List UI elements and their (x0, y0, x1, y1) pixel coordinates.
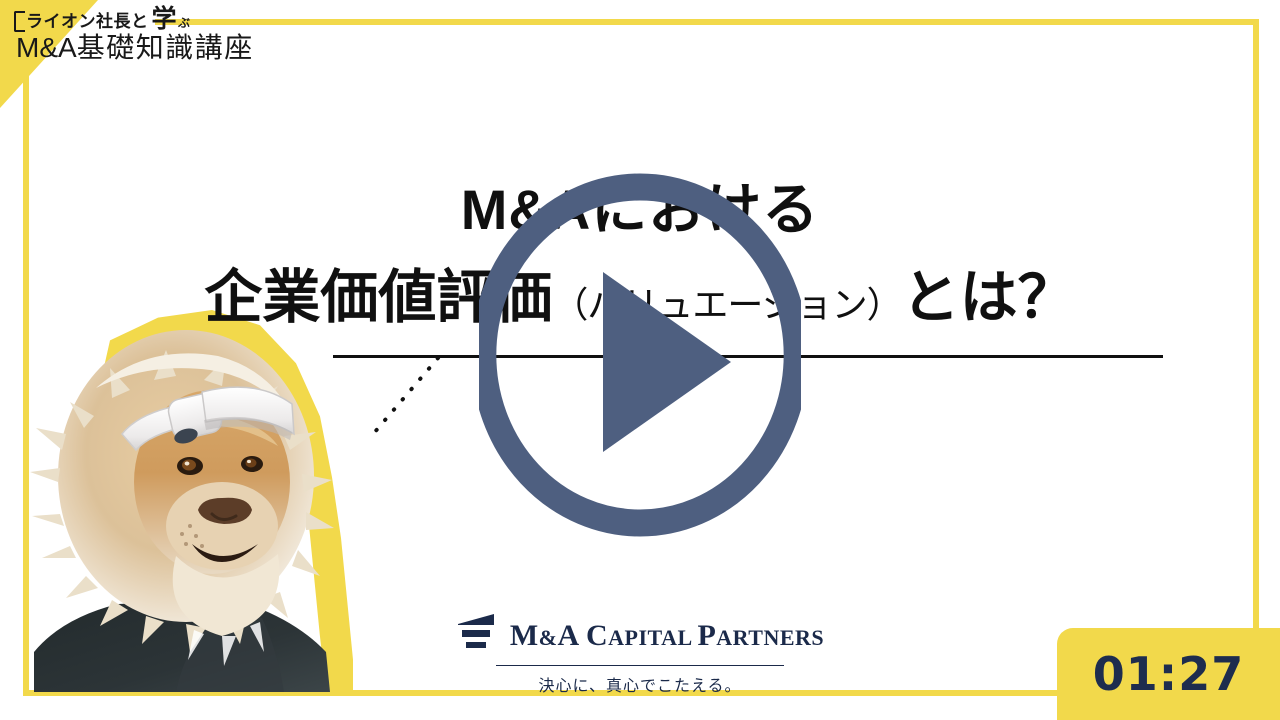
frame-line-top (155, 19, 1259, 25)
course-title-rest: 基礎知識講座 (77, 33, 254, 64)
play-button[interactable] (479, 160, 801, 550)
frame-line-left (23, 58, 29, 696)
company-tagline: 決心に、真心でこたえる。 (538, 672, 741, 696)
logo-word-capital-rest: APITAL (608, 625, 697, 650)
logo-word-capital-c: C (586, 619, 608, 652)
company-logo-wordmark: M&A CAPITAL PARTNERS (510, 621, 824, 651)
series-subtitle: ライオン社長と 学 ぶ (14, 4, 254, 30)
ma-capital-partners-mark-icon (456, 612, 496, 659)
series-lockup: ライオン社長と 学 ぶ M&A基礎知識講座 (14, 4, 254, 63)
logo-word-amp: & (539, 625, 558, 650)
video-player-frame: ライオン社長と 学 ぶ M&A基礎知識講座 (0, 0, 1280, 720)
company-logo-row: M&A CAPITAL PARTNERS (456, 612, 824, 659)
slide-title-line2-tail: とは？ (902, 265, 1076, 330)
series-subtitle-kanji-suffix: ぶ (178, 17, 191, 29)
video-duration-badge: 01:27 (1057, 628, 1280, 720)
logo-word-partners-rest: ARTNERS (716, 625, 824, 650)
video-duration-text: 01:27 (1093, 651, 1244, 697)
open-book-icon (14, 11, 24, 30)
logo-word-m: M (510, 619, 539, 652)
series-subtitle-kanji: 学 (152, 8, 178, 31)
series-subtitle-text: ライオン社長と (26, 13, 149, 30)
logo-word-partners-p: P (697, 619, 716, 652)
logo-word-a: A (557, 619, 586, 652)
course-title: M&A基礎知識講座 (16, 33, 254, 63)
dotted-leader-line (364, 356, 442, 442)
logo-divider (496, 665, 784, 666)
